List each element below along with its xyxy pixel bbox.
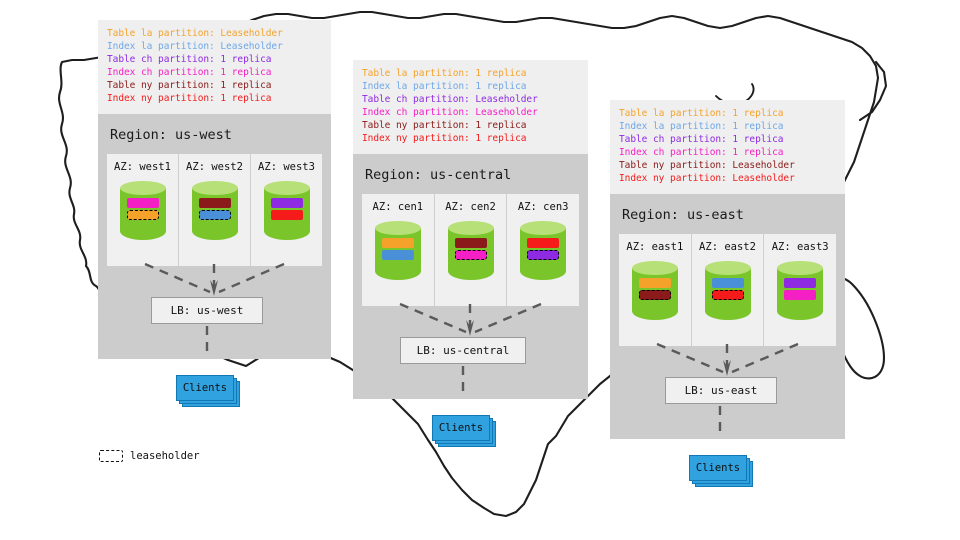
legend-line: Index ch partition: Leaseholder — [362, 106, 579, 119]
lb-label: LB: us-west — [171, 304, 244, 317]
legend-line: Index la partition: Leaseholder — [107, 40, 322, 53]
region-panel-us-east: Region: us-east AZ: east1 AZ: east2 — [610, 194, 845, 439]
az-label: AZ: west3 — [251, 161, 322, 173]
legend-line: Table ch partition: 1 replica — [107, 53, 322, 66]
clients-label: Clients — [176, 375, 234, 401]
partition-legend-us-west: Table la partition: Leaseholder Index la… — [98, 20, 331, 114]
leaseholder-legend-label: leaseholder — [130, 450, 200, 462]
legend-line: Table ny partition: 1 replica — [107, 79, 322, 92]
clients-label: Clients — [689, 455, 747, 481]
load-balancer-us-west[interactable]: LB: us-west — [151, 297, 263, 324]
cylinder-top — [777, 261, 823, 275]
cylinder-top — [192, 181, 238, 195]
partition-slot — [382, 250, 414, 260]
legend-line: Index la partition: 1 replica — [619, 120, 836, 133]
lb-to-clients-connector — [98, 326, 331, 358]
legend-line: Table la partition: 1 replica — [362, 67, 579, 80]
az-cell-cen2[interactable]: AZ: cen2 — [434, 194, 507, 306]
partition-slot — [712, 278, 744, 288]
database-cylinder-cen3[interactable] — [520, 221, 566, 283]
clients-stack-us-west[interactable]: Clients — [176, 375, 238, 403]
az-label: AZ: east2 — [692, 241, 764, 253]
partition-slot — [639, 278, 671, 288]
az-label: AZ: cen3 — [507, 201, 579, 213]
diagram-canvas: Table la partition: Leaseholder Index la… — [0, 0, 960, 540]
partition-slot — [784, 278, 816, 288]
az-cell-west1[interactable]: AZ: west1 — [107, 154, 178, 266]
database-cylinder-west3[interactable] — [264, 181, 310, 243]
legend-line: Index ch partition: 1 replica — [107, 66, 322, 79]
az-row-us-central: AZ: cen1 AZ: cen2 — [362, 194, 579, 306]
dashed-box-icon — [99, 450, 123, 462]
region-title: Region: us-east — [610, 194, 845, 234]
region-title: Region: us-west — [98, 114, 331, 154]
az-label: AZ: west1 — [107, 161, 178, 173]
partition-legend-us-east: Table la partition: 1 replica Index la p… — [610, 100, 845, 194]
leaseholder-legend-key: leaseholder — [99, 450, 200, 462]
load-balancer-us-central[interactable]: LB: us-central — [400, 337, 526, 364]
legend-line: Index ny partition: Leaseholder — [619, 172, 836, 185]
cylinder-top — [705, 261, 751, 275]
cylinder-top — [375, 221, 421, 235]
legend-line: Table ny partition: 1 replica — [362, 119, 579, 132]
region-panel-us-central: Region: us-central AZ: cen1 AZ: cen2 — [353, 154, 588, 399]
database-cylinder-east2[interactable] — [705, 261, 751, 323]
lb-to-clients-connector — [610, 406, 845, 438]
legend-line: Index la partition: 1 replica — [362, 80, 579, 93]
database-cylinder-west2[interactable] — [192, 181, 238, 243]
legend-line: Table la partition: 1 replica — [619, 107, 836, 120]
az-cell-west3[interactable]: AZ: west3 — [250, 154, 322, 266]
az-cell-east3[interactable]: AZ: east3 — [763, 234, 836, 346]
cylinder-top — [520, 221, 566, 235]
clients-stack-us-central[interactable]: Clients — [432, 415, 494, 443]
az-label: AZ: west2 — [179, 161, 250, 173]
cylinder-top — [264, 181, 310, 195]
partition-slot-leaseholder — [527, 250, 559, 260]
legend-line: Table ch partition: 1 replica — [619, 133, 836, 146]
database-cylinder-west1[interactable] — [120, 181, 166, 243]
partition-slot — [455, 238, 487, 248]
az-cell-east1[interactable]: AZ: east1 — [619, 234, 691, 346]
az-label: AZ: east1 — [619, 241, 691, 253]
cylinder-top — [632, 261, 678, 275]
region-cluster-us-west: Table la partition: Leaseholder Index la… — [98, 20, 331, 359]
partition-slot-leaseholder — [127, 210, 159, 220]
lb-label: LB: us-central — [417, 344, 510, 357]
lb-to-clients-connector — [353, 366, 588, 398]
clients-stack-us-east[interactable]: Clients — [689, 455, 751, 483]
az-label: AZ: east3 — [764, 241, 836, 253]
legend-line: Index ny partition: 1 replica — [362, 132, 579, 145]
partition-slot — [271, 210, 303, 220]
cylinder-top — [448, 221, 494, 235]
partition-slot-leaseholder — [639, 290, 671, 300]
az-label: AZ: cen2 — [435, 201, 507, 213]
az-cell-west2[interactable]: AZ: west2 — [178, 154, 250, 266]
partition-slot — [382, 238, 414, 248]
clients-label: Clients — [432, 415, 490, 441]
az-row-us-east: AZ: east1 AZ: east2 — [619, 234, 836, 346]
partition-slot — [527, 238, 559, 248]
partition-slot — [271, 198, 303, 208]
legend-line: Table ch partition: Leaseholder — [362, 93, 579, 106]
partition-slot-leaseholder — [455, 250, 487, 260]
partition-slot-leaseholder — [712, 290, 744, 300]
legend-line: Index ch partition: 1 replica — [619, 146, 836, 159]
cylinder-top — [120, 181, 166, 195]
region-panel-us-west: Region: us-west AZ: west1 AZ: west2 — [98, 114, 331, 359]
partition-legend-us-central: Table la partition: 1 replica Index la p… — [353, 60, 588, 154]
region-cluster-us-east: Table la partition: 1 replica Index la p… — [610, 100, 845, 439]
database-cylinder-cen2[interactable] — [448, 221, 494, 283]
partition-slot — [784, 290, 816, 300]
database-cylinder-east3[interactable] — [777, 261, 823, 323]
region-cluster-us-central: Table la partition: 1 replica Index la p… — [353, 60, 588, 399]
database-cylinder-cen1[interactable] — [375, 221, 421, 283]
az-label: AZ: cen1 — [362, 201, 434, 213]
az-cell-east2[interactable]: AZ: east2 — [691, 234, 764, 346]
az-cell-cen3[interactable]: AZ: cen3 — [506, 194, 579, 306]
load-balancer-us-east[interactable]: LB: us-east — [665, 377, 777, 404]
partition-slot-leaseholder — [199, 210, 231, 220]
lb-label: LB: us-east — [685, 384, 758, 397]
legend-line: Index ny partition: 1 replica — [107, 92, 322, 105]
region-title: Region: us-central — [353, 154, 588, 194]
az-row-us-west: AZ: west1 AZ: west2 — [107, 154, 322, 266]
az-cell-cen1[interactable]: AZ: cen1 — [362, 194, 434, 306]
partition-slot — [199, 198, 231, 208]
legend-line: Table ny partition: Leaseholder — [619, 159, 836, 172]
legend-line: Table la partition: Leaseholder — [107, 27, 322, 40]
partition-slot — [127, 198, 159, 208]
database-cylinder-east1[interactable] — [632, 261, 678, 323]
